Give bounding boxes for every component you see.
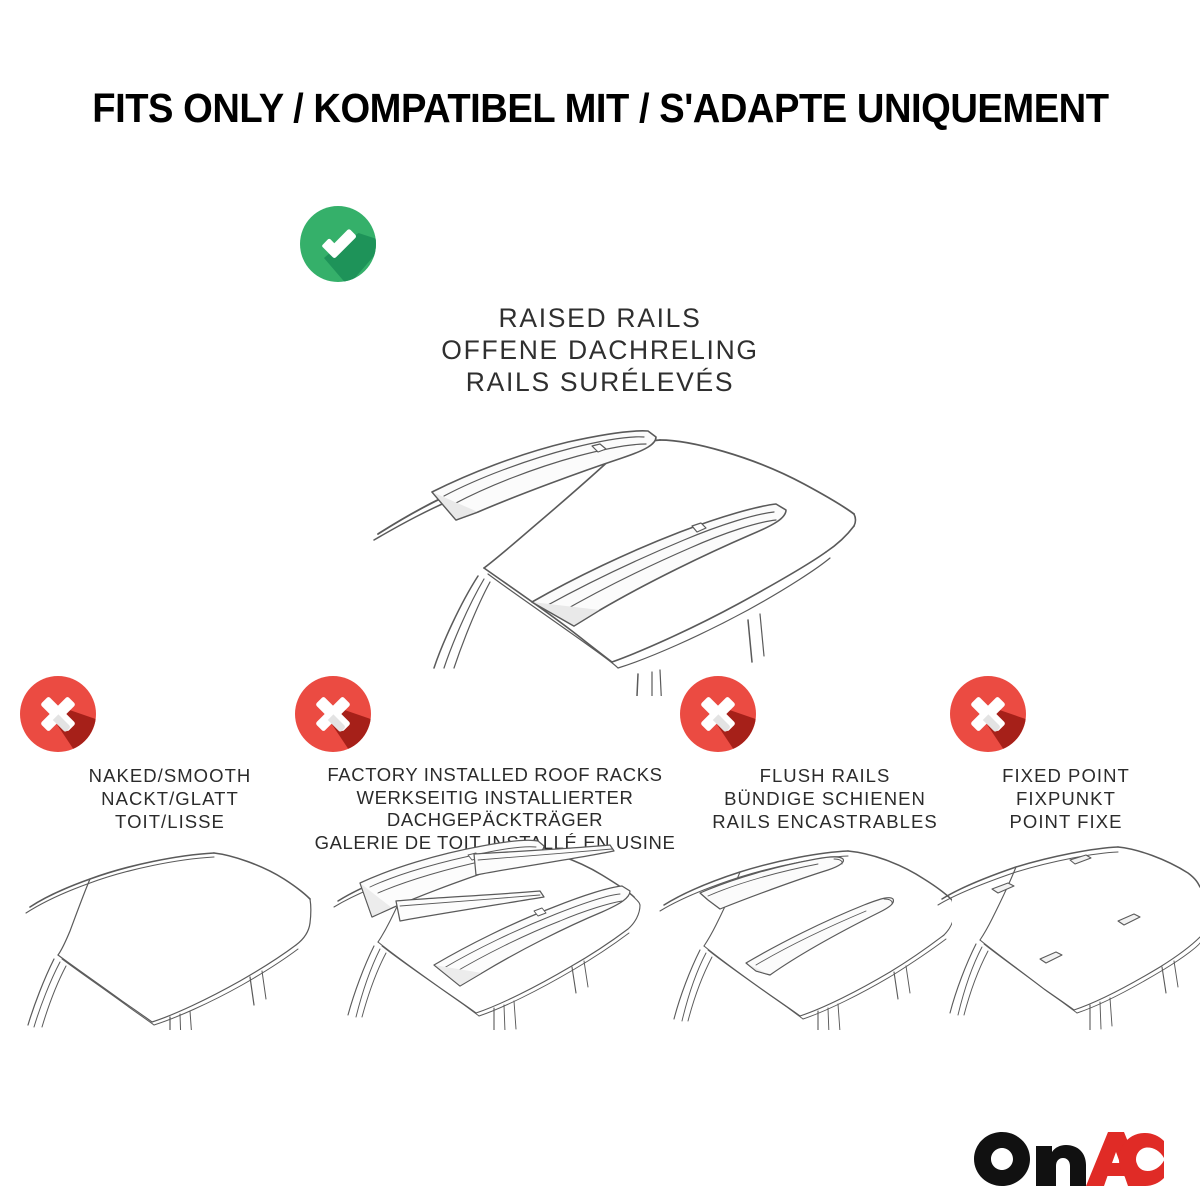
x-icon-wrap-3 — [680, 676, 970, 752]
page-title-text: FITS ONLY / KOMPATIBEL MIT / S'ADAPTE UN… — [92, 84, 1108, 132]
check-circle-icon — [300, 206, 376, 282]
car-roof-flush-rails-illustration — [652, 835, 952, 1030]
incompatible-2-line-3: DACHGEPÄCKTRÄGER — [295, 809, 695, 832]
omac-wordmark — [974, 1132, 1164, 1186]
x-icon-wrap-2 — [295, 676, 695, 752]
x-circle-icon — [950, 676, 1026, 752]
compatible-label-line-2: OFFENE DACHRELING — [300, 334, 900, 366]
compatible-label-line-1: RAISED RAILS — [300, 302, 900, 334]
incompatible-4-line-3: POINT FIXE — [950, 810, 1182, 833]
incompatible-2-line-2: WERKSEITIG INSTALLIERTER — [295, 787, 695, 810]
omac-logo — [974, 1126, 1164, 1186]
page-title: FITS ONLY / KOMPATIBEL MIT / S'ADAPTE UN… — [0, 84, 1200, 132]
raised-rails-drawing — [360, 416, 860, 696]
car-roof-factory-rack-illustration — [322, 835, 652, 1030]
compatible-label: RAISED RAILS OFFENE DACHRELING RAILS SUR… — [300, 302, 900, 398]
incompatible-label-3: FLUSH RAILS BÜNDIGE SCHIENEN RAILS ENCAS… — [680, 764, 970, 833]
factory-rack-drawing — [322, 835, 652, 1030]
incompatible-item-flush-rails: FLUSH RAILS BÜNDIGE SCHIENEN RAILS ENCAS… — [680, 676, 970, 833]
x-circle-icon — [680, 676, 756, 752]
incompatible-label-1: NAKED/SMOOTH NACKT/GLATT TOIT/LISSE — [20, 764, 320, 833]
incompatible-4-line-1: FIXED POINT — [950, 764, 1182, 787]
incompatible-1-line-2: NACKT/GLATT — [20, 787, 320, 810]
x-circle-icon — [20, 676, 96, 752]
car-roof-fixed-point-illustration — [932, 835, 1200, 1030]
fixed-point-drawing — [932, 835, 1200, 1030]
incompatible-3-line-2: BÜNDIGE SCHIENEN — [680, 787, 970, 810]
naked-roof-drawing — [18, 835, 318, 1030]
incompatible-4-line-2: FIXPUNKT — [950, 787, 1182, 810]
incompatible-1-line-3: TOIT/LISSE — [20, 810, 320, 833]
flush-rails-drawing — [652, 835, 952, 1030]
incompatible-2-line-1: FACTORY INSTALLED ROOF RACKS — [295, 764, 695, 787]
incompatible-item-fixed-point: FIXED POINT FIXPUNKT POINT FIXE — [950, 676, 1182, 833]
compatible-label-line-3: RAILS SURÉLEVÉS — [300, 366, 900, 398]
product-compatibility-infographic: FITS ONLY / KOMPATIBEL MIT / S'ADAPTE UN… — [0, 0, 1200, 1200]
incompatible-1-line-1: NAKED/SMOOTH — [20, 764, 320, 787]
incompatible-item-factory-rack: FACTORY INSTALLED ROOF RACKS WERKSEITIG … — [295, 676, 695, 854]
check-icon-wrap — [300, 206, 900, 282]
compatible-section: RAISED RAILS OFFENE DACHRELING RAILS SUR… — [300, 206, 900, 398]
x-icon-wrap-1 — [20, 676, 320, 752]
incompatible-item-naked-smooth: NAKED/SMOOTH NACKT/GLATT TOIT/LISSE — [20, 676, 320, 833]
car-roof-naked-smooth-illustration — [18, 835, 318, 1030]
incompatible-3-line-3: RAILS ENCASTRABLES — [680, 810, 970, 833]
car-roof-raised-rails-illustration — [360, 416, 860, 696]
incompatible-3-line-1: FLUSH RAILS — [680, 764, 970, 787]
incompatible-label-4: FIXED POINT FIXPUNKT POINT FIXE — [950, 764, 1182, 833]
x-icon-wrap-4 — [950, 676, 1182, 752]
x-circle-icon — [295, 676, 371, 752]
